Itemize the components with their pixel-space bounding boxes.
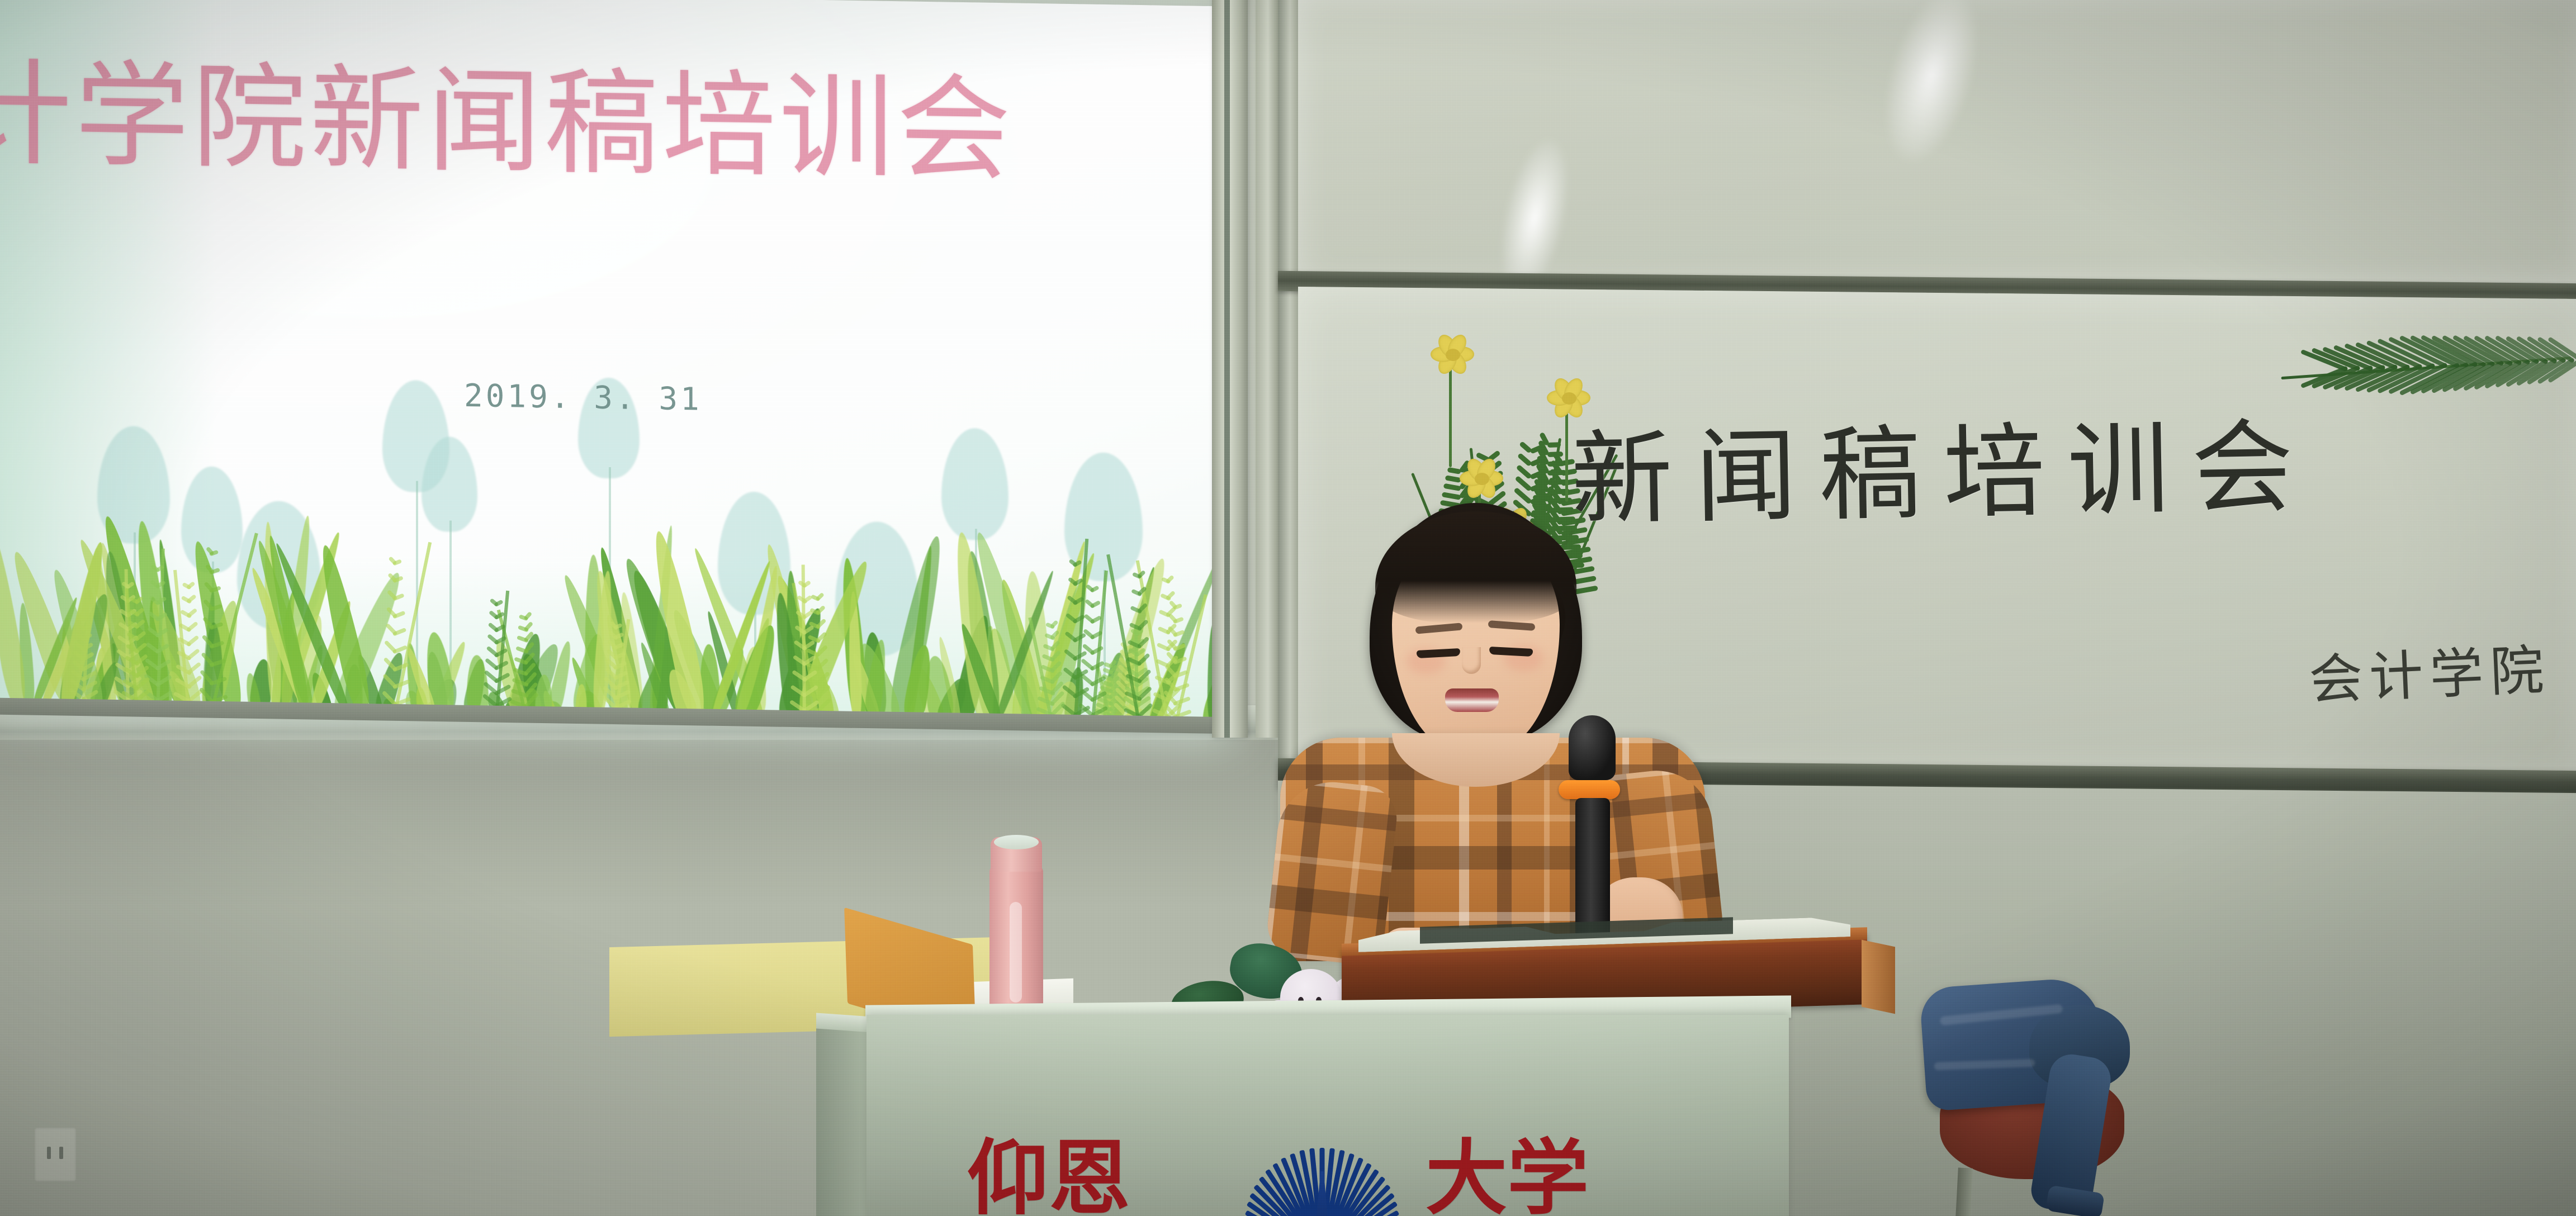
slide-title: 计学院新闻稿培训会 bbox=[0, 53, 1221, 196]
podium-text-right: 大学 bbox=[1426, 1113, 1589, 1216]
nose bbox=[1462, 647, 1481, 674]
podium-text-left: 仰恩 bbox=[967, 1113, 1130, 1216]
eye-left bbox=[1417, 648, 1461, 658]
microphone-orange-band bbox=[1559, 780, 1620, 799]
whiteboard-signature: 会计学院 bbox=[2307, 626, 2552, 715]
microphone-head bbox=[1569, 715, 1616, 780]
document-stand-side bbox=[1862, 940, 1895, 1014]
podium-front-panel: 仰恩 大学 bbox=[866, 1015, 1789, 1216]
jacket-cuff bbox=[2045, 1185, 2105, 1216]
speaker-person bbox=[1207, 492, 1744, 950]
photo-scene: 计学院新闻稿培训会 2019. 3. 31 新闻稿培训会 会计学院 bbox=[0, 0, 2576, 1216]
podium: 仰恩 大学 bbox=[816, 989, 1789, 1216]
thermos-lid-top bbox=[994, 835, 1039, 849]
electrical-outlet bbox=[35, 1128, 76, 1181]
palm-frond-decoration bbox=[2281, 313, 2572, 425]
pink-thermos-bottle bbox=[989, 837, 1043, 1013]
denim-jacket bbox=[1901, 977, 2191, 1216]
university-sunburst-logo bbox=[1258, 1099, 1386, 1216]
slide-date: 2019. 3. 31 bbox=[464, 378, 702, 418]
wall-shadow bbox=[0, 740, 1381, 908]
microphone-body bbox=[1575, 798, 1610, 938]
thermos-window bbox=[1010, 902, 1022, 1003]
mouth bbox=[1445, 688, 1499, 712]
eye-right bbox=[1489, 647, 1533, 657]
handheld-microphone bbox=[1565, 715, 1619, 939]
hair-fringe bbox=[1375, 511, 1576, 623]
podium-side-panel bbox=[816, 1028, 870, 1216]
projection-screen: 计学院新闻稿培训会 2019. 3. 31 bbox=[0, 0, 1221, 728]
eyebrow-left bbox=[1415, 623, 1463, 634]
